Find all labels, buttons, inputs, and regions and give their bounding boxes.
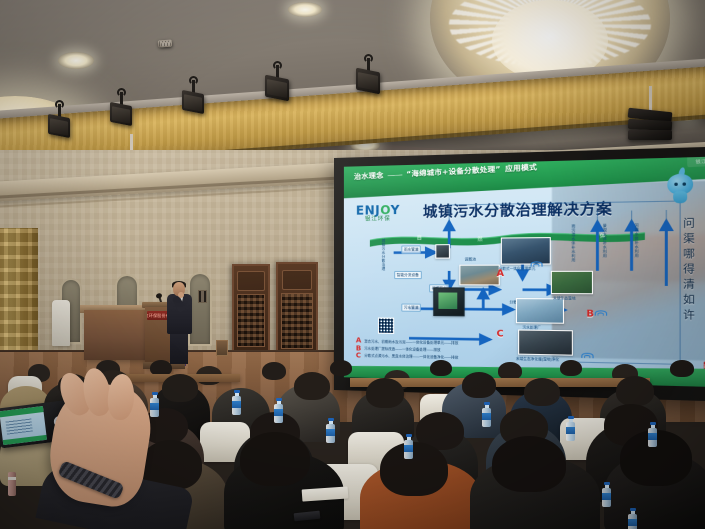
water-bottle[interactable] xyxy=(232,390,241,415)
attendee-head xyxy=(560,360,582,376)
legend-line-c: 分散式点源污水、黑臭水体治理——一体化设备净化——排放 xyxy=(364,353,458,360)
diagram-label-vertical: 景观水体补水利用 xyxy=(602,224,606,273)
wifi-icon xyxy=(582,352,592,359)
water-bottle[interactable] xyxy=(566,416,575,441)
stage-spotlight-icon xyxy=(48,104,70,134)
downlight-icon xyxy=(58,52,94,69)
water-bottle[interactable] xyxy=(150,392,159,417)
thermos-flask[interactable] xyxy=(8,472,16,496)
diagram-thumbnail-pond xyxy=(459,265,499,286)
diagram-thumbnail-lake xyxy=(516,298,564,324)
wifi-icon xyxy=(595,309,605,316)
legend-line-b: 污水处理厂提标改造——一体化设备处理——排放 xyxy=(364,346,458,353)
qr-code-icon[interactable] xyxy=(378,317,394,333)
line-array-speaker-icon xyxy=(628,110,672,140)
diagram-thumbnail-wetland xyxy=(551,271,593,294)
attendee-head xyxy=(524,378,560,406)
stage-chair xyxy=(52,300,70,346)
flow-marker-b: B xyxy=(586,309,594,320)
diagram-label: 雨水管道 xyxy=(401,245,421,253)
diagram-label-vertical: 城镇污水分散治理 xyxy=(381,239,385,298)
attendee-head xyxy=(294,372,330,400)
water-bottle[interactable] xyxy=(482,402,491,427)
attendee-head xyxy=(670,360,694,377)
legend-line-a: 混合污水、初期雨水及污泥——一体化设备处理单元——排放 xyxy=(364,338,458,345)
water-bottle[interactable] xyxy=(274,398,283,423)
diagram-thumbnail-tank xyxy=(518,329,573,355)
attendee-head xyxy=(462,372,496,398)
diagram-device-container xyxy=(433,287,464,316)
diagram-label: 污水管道 xyxy=(401,303,421,311)
water-bottle[interactable] xyxy=(326,418,335,443)
stage-spotlight-icon xyxy=(110,92,132,122)
air-vent-icon xyxy=(160,42,172,48)
water-bottle[interactable] xyxy=(648,422,657,447)
attendee-head xyxy=(430,360,452,376)
stage-spotlight-icon xyxy=(265,65,289,97)
diagram-device-diverter xyxy=(435,244,450,258)
attendee-head xyxy=(240,432,310,486)
stage-spotlight-icon xyxy=(182,80,204,110)
diagram-label: 调蓄池 xyxy=(465,258,476,262)
hall-door[interactable] xyxy=(232,264,270,356)
stage-spotlight-icon xyxy=(356,58,380,90)
flow-marker-a: A xyxy=(497,269,504,279)
diagram-thumbnail-plant xyxy=(501,237,551,265)
attendee-head xyxy=(380,442,448,496)
attendee-head xyxy=(262,362,286,380)
water-bottle[interactable] xyxy=(404,434,413,459)
attendee-head xyxy=(492,436,566,492)
water-drop-mascot-icon xyxy=(665,169,695,207)
presenter xyxy=(167,282,193,364)
floor-box xyxy=(216,340,228,356)
calligraphy-block: 问渠哪得清如许 唯有源头活水来 xyxy=(678,216,705,337)
attendee-head xyxy=(162,374,198,402)
attendee-head xyxy=(330,360,352,376)
diagram-caption: 末端生态湿地 xyxy=(553,295,576,300)
flow-marker-c: C xyxy=(497,329,504,340)
calligraphy-line-1: 问渠哪得清如许 xyxy=(678,217,696,337)
hall-door[interactable] xyxy=(276,262,318,358)
water-bottle[interactable] xyxy=(628,508,637,529)
legend-key-c: C xyxy=(356,352,361,359)
water-bottle[interactable] xyxy=(602,482,611,507)
attendee-head xyxy=(366,378,404,408)
conference-hall-scene: 银江环保股份有限公司 治水理念 —— “海绵城市+设备分散处理” 应用模式 xyxy=(0,0,705,529)
attendee-head xyxy=(616,376,654,406)
presentation-slide: 治水理念 —— “海绵城市+设备分散处理” 应用模式 ENJOY 银江环保 xyxy=(344,156,705,387)
wifi-icon xyxy=(531,260,541,266)
diagram-label: 智能分流设备 xyxy=(394,271,421,279)
diagram-caption: 污水处理厂 xyxy=(522,324,540,329)
diagram-label-vertical: 河湖水体补水利用 xyxy=(634,223,639,273)
diagram-label-vertical: 雨污混水体补水利用 xyxy=(571,224,575,273)
camera-viewfinder xyxy=(0,406,47,445)
wall-vent-icon xyxy=(198,290,207,303)
slide-legend: A B C 混合污水、初期雨水及污泥——一体化设备处理单元——排放 污水处理厂提… xyxy=(356,337,458,361)
downlight-icon xyxy=(288,2,322,17)
